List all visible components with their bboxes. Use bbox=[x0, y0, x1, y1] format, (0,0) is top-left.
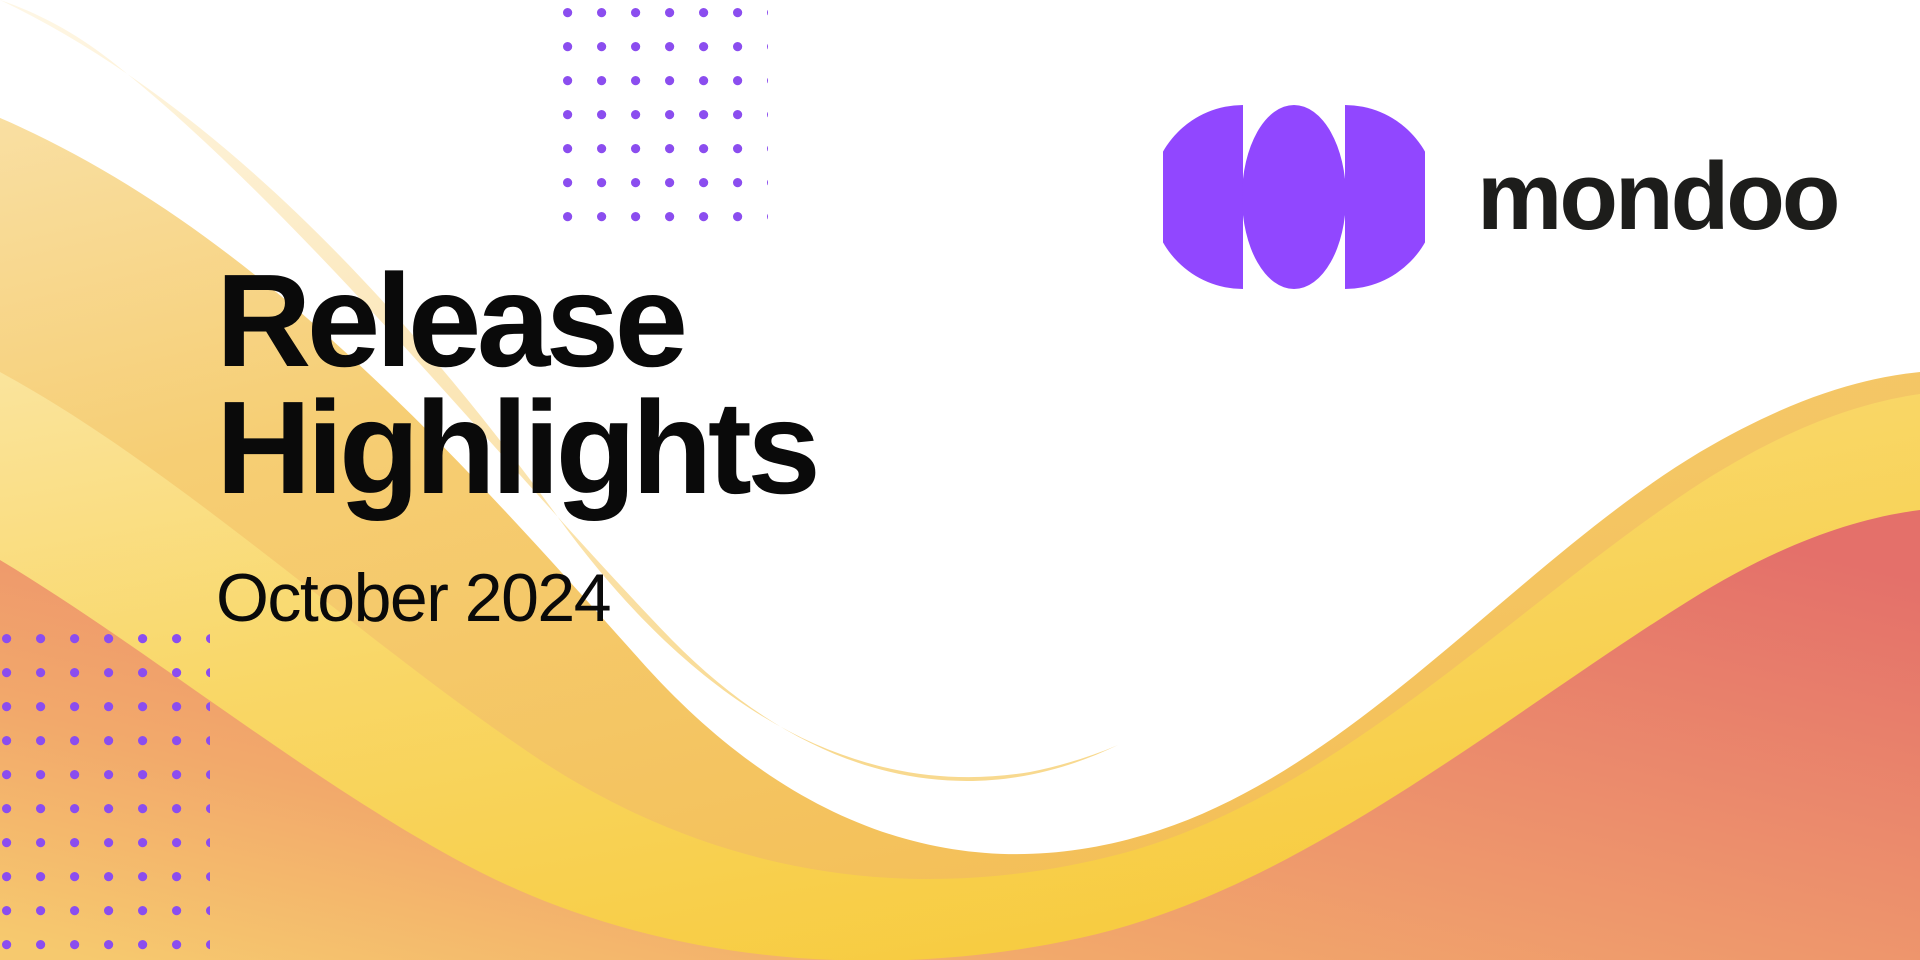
page-subtitle: October 2024 bbox=[216, 559, 816, 637]
purple-dot-grid-bottom-left bbox=[0, 630, 212, 960]
page-title: ReleaseHighlights bbox=[216, 258, 816, 511]
release-highlights-banner: ReleaseHighlights October 2024 mondoo bbox=[0, 0, 1920, 960]
headline-block: ReleaseHighlights October 2024 bbox=[216, 258, 816, 637]
purple-dot-grid-top bbox=[560, 4, 768, 244]
mondoo-logo-mark bbox=[1163, 104, 1425, 290]
page-title-line-2: Highlights bbox=[216, 385, 816, 512]
mondoo-logo[interactable]: mondoo bbox=[1163, 104, 1838, 290]
mondoo-wordmark: mondoo bbox=[1477, 149, 1838, 245]
page-title-line-1: Release bbox=[216, 247, 684, 394]
